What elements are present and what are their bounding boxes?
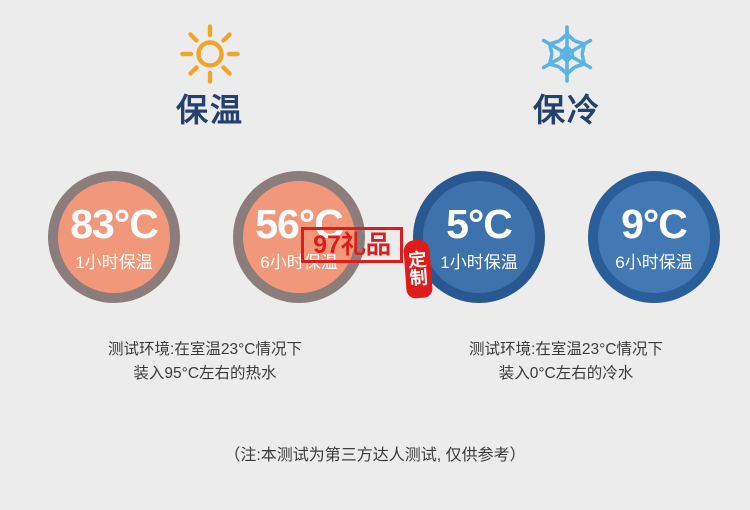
caption-hot: 测试环境:在室温23°C情况下 装入95°C左右的热水 — [35, 338, 375, 386]
section-heading-hot: 保温 — [100, 22, 320, 129]
result-circle: 9°C 6小时保温 — [588, 171, 720, 303]
heading-label-hot: 保温 — [100, 92, 320, 129]
thermal-performance-infographic: 保温 — [0, 0, 750, 510]
caption-hot-line-1: 测试环境:在室温23°C情况下 — [35, 338, 375, 362]
circle-temperature: 9°C — [621, 204, 687, 245]
heading-label-cold: 保冷 — [457, 92, 677, 129]
sun-icon — [100, 22, 320, 86]
section-heading-cold: 保冷 — [457, 22, 677, 129]
circle-duration: 1小时保温 — [75, 254, 152, 271]
snowflake-icon — [457, 22, 677, 86]
footnote: （注:本测试为第三方达人测试, 仅供参考） — [0, 441, 750, 465]
caption-cold: 测试环境:在室温23°C情况下 装入0°C左右的冷水 — [396, 338, 736, 386]
result-circle: 5°C 1小时保温 — [413, 171, 545, 303]
watermark-badge: 定 制 — [403, 239, 433, 299]
watermark-box: 97礼品 — [301, 227, 403, 263]
caption-cold-line-2: 装入0°C左右的冷水 — [396, 362, 736, 386]
circle-temperature: 83°C — [70, 204, 158, 245]
watermark-badge-char-2: 制 — [409, 268, 428, 288]
result-circle: 83°C 1小时保温 — [48, 171, 180, 303]
circle-duration: 6小时保温 — [615, 254, 692, 271]
circle-temperature: 5°C — [446, 204, 512, 245]
caption-hot-line-2: 装入95°C左右的热水 — [35, 362, 375, 386]
caption-cold-line-1: 测试环境:在室温23°C情况下 — [396, 338, 736, 362]
watermark-text: 97礼品 — [313, 233, 391, 258]
circle-duration: 1小时保温 — [440, 254, 517, 271]
